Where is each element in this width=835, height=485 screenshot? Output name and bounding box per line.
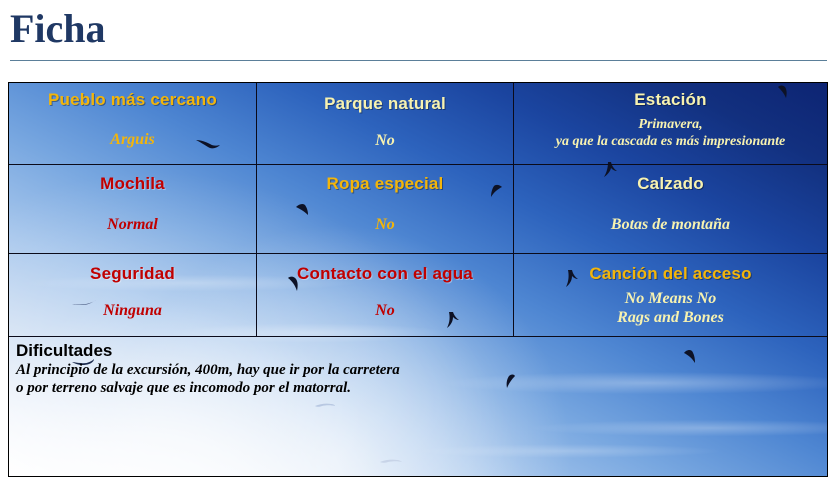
cell-header: Pueblo más cercano bbox=[13, 89, 252, 110]
table-cell-mochila: Mochila Normal bbox=[9, 173, 256, 234]
page-title: Ficha bbox=[10, 6, 106, 52]
cell-value: Ninguna bbox=[13, 301, 252, 320]
cell-header: Seguridad bbox=[13, 263, 252, 284]
slide-root: Ficha bbox=[0, 0, 835, 485]
title-area: Ficha bbox=[0, 0, 835, 64]
table-cell-calzado: Calzado Botas de montaña bbox=[514, 173, 827, 234]
grid-hline bbox=[9, 253, 827, 254]
info-sheet: Pueblo más cercano Arguis Parque natural… bbox=[8, 82, 828, 477]
table-cell-ropa: Ropa especial No bbox=[257, 173, 513, 234]
table-cell-seguridad: Seguridad Ninguna bbox=[9, 263, 256, 320]
grid-hline bbox=[9, 336, 827, 337]
difficulties-title: Dificultades bbox=[16, 341, 827, 361]
cell-value: No bbox=[261, 131, 509, 150]
cell-value: Normal bbox=[13, 215, 252, 234]
cell-header: Mochila bbox=[13, 173, 252, 194]
cell-header: Parque natural bbox=[261, 93, 509, 114]
grid-hline bbox=[9, 164, 827, 165]
table-cell-cancion: Canción del acceso No Means No Rags and … bbox=[514, 263, 827, 327]
cell-header: Calzado bbox=[518, 173, 823, 194]
cell-header: Estación bbox=[518, 89, 823, 110]
difficulties-line: o por terreno salvaje que es incomodo po… bbox=[16, 379, 827, 397]
cell-header: Ropa especial bbox=[261, 173, 509, 194]
cell-header: Contacto con el agua bbox=[261, 263, 509, 284]
table-cell-parque: Parque natural No bbox=[257, 93, 513, 150]
cell-value: No Means No bbox=[518, 289, 823, 308]
cell-value: ya que la cascada es más impresionante bbox=[518, 133, 823, 150]
difficulties-line: Al principio de la excursión, 400m, hay … bbox=[16, 361, 827, 379]
table-cell-estacion: Estación Primavera, ya que la cascada es… bbox=[514, 89, 827, 150]
difficulties-section: Dificultades Al principio de la excursió… bbox=[9, 341, 827, 397]
cell-value: Arguis bbox=[13, 130, 252, 149]
title-divider bbox=[10, 60, 827, 61]
cell-value: Botas de montaña bbox=[518, 215, 823, 234]
table-cell-contacto: Contacto con el agua No bbox=[257, 263, 513, 320]
table-cell-pueblo: Pueblo más cercano Arguis bbox=[9, 89, 256, 149]
cell-value: Rags and Bones bbox=[518, 308, 823, 327]
cell-header: Canción del acceso bbox=[518, 263, 823, 284]
cell-value: No bbox=[261, 215, 509, 234]
cell-value: No bbox=[261, 301, 509, 320]
cell-value: Primavera, bbox=[518, 116, 823, 133]
